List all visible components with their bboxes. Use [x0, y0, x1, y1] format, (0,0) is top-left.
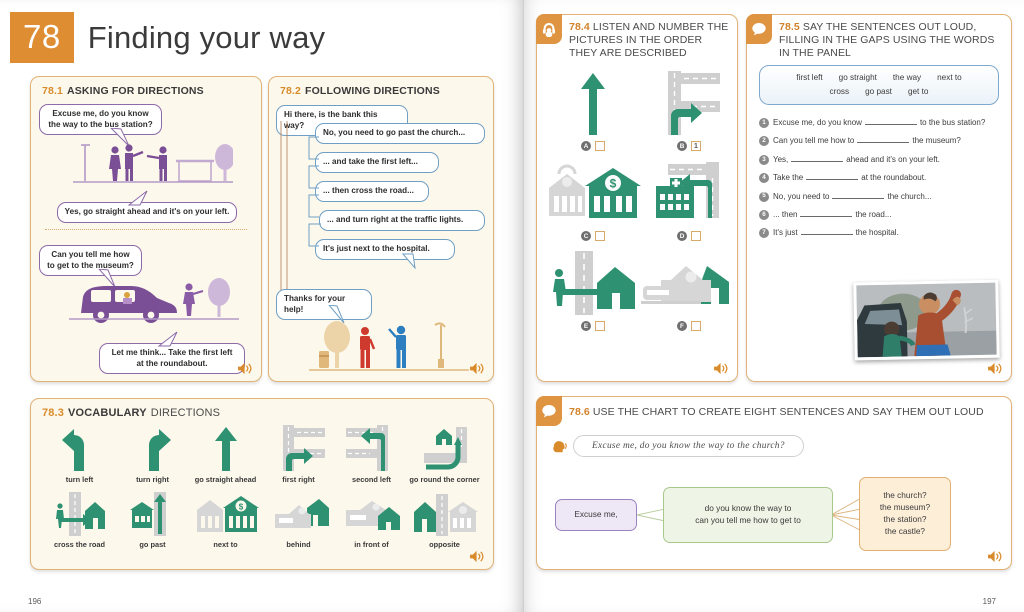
vocab-label: opposite	[429, 540, 460, 549]
audio-speaker-icon[interactable]	[470, 362, 485, 375]
gap-fill-item: 3 Yes,ahead and it's on your left.	[759, 154, 1001, 165]
picture-item: E	[545, 247, 641, 331]
bubble-tail-icon	[127, 190, 149, 206]
audio-speaker-icon[interactable]	[238, 362, 253, 375]
headphones-icon	[536, 14, 562, 44]
go-past-icon	[128, 488, 178, 536]
page-number-left: 196	[28, 597, 41, 606]
word-chip: cross	[830, 87, 850, 96]
speech-bubble-icon	[536, 396, 562, 426]
chart-destination-box: the church? the museum? the station? the…	[859, 477, 951, 551]
page-left: 78 Finding your way 78.1ASKING FOR DIREC…	[0, 0, 524, 612]
vocab-label: cross the road	[54, 540, 105, 549]
answer-box[interactable]	[595, 321, 605, 331]
bubble-tail-icon	[401, 253, 419, 269]
chart-option: the church?	[883, 490, 926, 502]
audio-speaker-icon[interactable]	[714, 362, 729, 375]
section-divider	[45, 229, 247, 230]
exercise-78-4-header: 78.4 LISTEN AND NUMBER THE PICTURES IN T…	[537, 15, 737, 59]
exercise-78-2-header: 78.2FOLLOWING DIRECTIONS	[269, 77, 493, 97]
speaking-head-icon	[551, 438, 569, 454]
word-chip: first left	[796, 73, 822, 82]
answer-gap[interactable]	[800, 209, 852, 217]
answer-gap[interactable]	[832, 191, 884, 199]
picture-letter: E	[581, 321, 591, 331]
question-text-before: Take the	[773, 173, 803, 182]
picture-item: B 1	[641, 67, 737, 151]
exercise-78-5-panel: 78.5 SAY THE SENTENCES OUT LOUD, FILLING…	[746, 14, 1012, 382]
question-number: 5	[759, 192, 769, 202]
vocab-label: next to	[213, 540, 237, 549]
picture-letter: B	[677, 141, 687, 151]
vocab-item: behind	[262, 488, 335, 549]
question-text-before: ... then	[773, 210, 797, 219]
answer-row: F	[677, 321, 701, 331]
vocab-item: opposite	[408, 488, 481, 549]
exercise-78-3-title-bold: VOCABULARY	[68, 407, 147, 419]
round-the-corner-icon	[418, 423, 472, 471]
chart-option: the castle?	[885, 526, 925, 538]
chart-option: the museum?	[880, 502, 930, 514]
next-to-bank-icon: $	[545, 157, 641, 229]
gap-fill-question-list: 1 Excuse me, do you knowto the bus stati…	[759, 117, 1001, 246]
gap-fill-item: 5 No, you need tothe church...	[759, 191, 1001, 202]
gap-fill-item: 4 Take theat the roundabout.	[759, 172, 1001, 183]
opposite-icon	[412, 488, 478, 536]
turn-left-arrow-icon	[62, 423, 98, 471]
vocabulary-grid: turn left turn right go straight ahead	[43, 423, 481, 549]
vocab-label: go straight ahead	[195, 475, 257, 484]
unit-header: 78 Finding your way	[10, 12, 325, 63]
answer-gap[interactable]	[801, 227, 853, 235]
picture-letter: D	[677, 231, 687, 241]
audio-speaker-icon[interactable]	[470, 550, 485, 563]
word-bank-row: cross go past get to	[766, 87, 992, 96]
word-bank-row: first left go straight the way next to	[766, 73, 992, 82]
car-scene-illustration	[69, 273, 239, 335]
answer-row: E	[581, 321, 605, 331]
question-number: 4	[759, 173, 769, 183]
vocab-item: first right	[262, 423, 335, 484]
gap-fill-item: 7 It's justthe hospital.	[759, 227, 1001, 238]
exercise-78-5-number: 78.5	[779, 21, 800, 33]
exercise-78-4-title: LISTEN AND NUMBER THE PICTURES IN THE OR…	[569, 21, 728, 59]
word-chip: get to	[908, 87, 929, 96]
unit-title: Finding your way	[88, 20, 326, 56]
question-number: 2	[759, 136, 769, 146]
bubble-78-1-q1: Excuse me, do you know the way to the bu…	[39, 104, 162, 135]
book-spread: 78 Finding your way 78.1ASKING FOR DIREC…	[0, 0, 1024, 612]
answer-row: A	[581, 141, 605, 151]
vocab-label: go past	[139, 540, 165, 549]
answer-box[interactable]	[595, 141, 605, 151]
second-left-junction-icon	[346, 423, 398, 471]
exercise-78-5-header: 78.5 SAY THE SENTENCES OUT LOUD, FILLING…	[747, 15, 1011, 59]
exercise-78-3-panel: 78.3VOCABULARYDIRECTIONS turn left turn …	[30, 398, 494, 570]
vocab-item: go past	[116, 488, 189, 549]
vocab-item: $ next to	[189, 488, 262, 549]
exercise-78-4-number: 78.4	[569, 21, 590, 33]
reply-chain-connector	[303, 135, 327, 255]
vocab-label: second left	[352, 475, 391, 484]
gap-fill-item: 2 Can you tell me how tothe museum?	[759, 135, 1001, 146]
driver-asking-directions-photo	[853, 280, 999, 361]
bubble-78-1-q2: Can you tell me how to get to the museum…	[39, 245, 142, 276]
chart-option: can you tell me how to get to	[695, 515, 801, 527]
bubble-78-2-reply-1: No, you need to go past the church...	[315, 123, 485, 144]
turn-right-arrow-icon	[135, 423, 171, 471]
example-bubble: Excuse me, do you know the way to the ch…	[573, 435, 804, 457]
question-text-before: Excuse me, do you know	[773, 118, 862, 127]
page-right: 78.4 LISTEN AND NUMBER THE PICTURES IN T…	[524, 0, 1024, 612]
word-chip: go straight	[839, 73, 877, 82]
answer-gap[interactable]	[806, 172, 858, 180]
picture-item: D	[641, 157, 737, 241]
answer-gap[interactable]	[857, 135, 909, 143]
vocab-item: cross the road	[43, 488, 116, 549]
exercise-78-1-number: 78.1	[42, 85, 63, 97]
exercise-78-1-panel: 78.1ASKING FOR DIRECTIONS Excuse me, do …	[30, 76, 262, 382]
exercise-78-5-title: SAY THE SENTENCES OUT LOUD, FILLING IN T…	[779, 21, 994, 59]
in-front-of-icon	[342, 488, 402, 536]
vocab-item: second left	[335, 423, 408, 484]
cross-the-road-icon	[549, 247, 637, 319]
chart-phrase-box: do you know the way to can you tell me h…	[663, 487, 833, 543]
sentence-chart: Excuse me, do you know the way to can yo…	[551, 475, 997, 551]
speech-bubble-icon	[746, 14, 772, 44]
answer-box[interactable]	[691, 321, 701, 331]
vocab-label: turn right	[136, 475, 169, 484]
word-bank-panel: first left go straight the way next to c…	[759, 65, 999, 105]
straight-arrow-icon	[578, 67, 608, 139]
behind-icon	[269, 488, 329, 536]
picture-letter: F	[677, 321, 687, 331]
first-right-junction-icon	[273, 423, 325, 471]
answer-gap[interactable]	[791, 154, 843, 162]
answer-gap[interactable]	[865, 117, 917, 125]
exercise-78-4-panel: 78.4 LISTEN AND NUMBER THE PICTURES IN T…	[536, 14, 738, 382]
vocab-item: turn left	[43, 423, 116, 484]
exercise-78-1-title: ASKING FOR DIRECTIONS	[67, 85, 204, 97]
question-text-before: No, you need to	[773, 192, 829, 201]
picture-grid: A	[545, 67, 729, 331]
audio-speaker-icon[interactable]	[988, 550, 1003, 563]
answer-box[interactable]	[595, 231, 605, 241]
question-text-after: ahead and it's on your left.	[846, 155, 940, 164]
chart-option: the station?	[884, 514, 927, 526]
exercise-78-2-title: FOLLOWING DIRECTIONS	[305, 85, 440, 97]
chart-opener-box: Excuse me,	[555, 499, 637, 531]
audio-speaker-icon[interactable]	[988, 362, 1003, 375]
straight-arrow-icon	[213, 423, 239, 471]
vocab-item: go round the corner	[408, 423, 481, 484]
page-number-right: 197	[983, 597, 996, 606]
vocab-label: first right	[282, 475, 314, 484]
picture-item: A	[545, 67, 641, 151]
answer-row: C	[581, 231, 605, 241]
picture-item: F	[641, 247, 737, 331]
picture-letter: A	[581, 141, 591, 151]
question-text-before: Yes,	[773, 155, 788, 164]
question-text-after: the hospital.	[856, 228, 899, 237]
answer-row: D	[677, 231, 701, 241]
picture-letter: C	[581, 231, 591, 241]
vocab-item: in front of	[335, 488, 408, 549]
exercise-78-3-header: 78.3VOCABULARYDIRECTIONS	[31, 399, 493, 419]
exercise-78-6-title: USE THE CHART TO CREATE EIGHT SENTENCES …	[593, 406, 984, 418]
question-text-after: the road...	[855, 210, 891, 219]
question-number: 7	[759, 228, 769, 238]
first-right-junction-icon	[658, 67, 720, 139]
exercise-78-6-header: 78.6 USE THE CHART TO CREATE EIGHT SENTE…	[537, 397, 1011, 419]
question-text-before: Can you tell me how to	[773, 136, 854, 145]
question-text-after: the museum?	[912, 136, 960, 145]
bubble-78-2-reply-3: ... then cross the road...	[315, 181, 429, 202]
vocab-label: turn left	[66, 475, 94, 484]
word-chip: go past	[865, 87, 892, 96]
cross-the-road-icon	[53, 488, 107, 536]
unit-number: 78	[10, 12, 74, 63]
svg-text:$: $	[610, 177, 617, 191]
exercise-78-3-number: 78.3	[42, 407, 64, 419]
answer-box[interactable]	[691, 231, 701, 241]
word-chip: the way	[893, 73, 921, 82]
gap-fill-item: 1 Excuse me, do you knowto the bus stati…	[759, 117, 1001, 128]
vocab-item: go straight ahead	[189, 423, 262, 484]
word-chip: next to	[937, 73, 962, 82]
question-number: 1	[759, 118, 769, 128]
exercise-78-6-panel: 78.6 USE THE CHART TO CREATE EIGHT SENTE…	[536, 396, 1012, 570]
exercise-78-6-number: 78.6	[569, 406, 590, 418]
bus-stop-scene-illustration	[73, 137, 233, 189]
question-text-after: at the roundabout.	[861, 173, 926, 182]
vocab-item: turn right	[116, 423, 189, 484]
exercise-78-1-header: 78.1ASKING FOR DIRECTIONS	[31, 77, 261, 97]
chart-option: Excuse me,	[574, 509, 617, 521]
street-figures-illustration	[309, 315, 469, 377]
chart-option: do you know the way to	[705, 503, 792, 515]
bubble-tail-icon	[157, 331, 179, 347]
question-text-before: It's just	[773, 228, 798, 237]
bubble-78-1-a2: Let me think... Take the first left at t…	[99, 343, 245, 374]
vocab-label: in front of	[354, 540, 388, 549]
exercise-78-2-number: 78.2	[280, 85, 301, 97]
hospital-corner-icon	[650, 157, 728, 229]
answer-row: B 1	[677, 141, 701, 151]
question-number: 3	[759, 155, 769, 165]
question-text-after: the church...	[887, 192, 931, 201]
gap-fill-item: 6 ... thenthe road...	[759, 209, 1001, 220]
question-text-after: to the bus station?	[920, 118, 985, 127]
bubble-78-2-reply-2: ... and take the first left...	[315, 152, 439, 173]
station-behind-house-icon	[641, 247, 737, 319]
vocab-label: go round the corner	[409, 475, 479, 484]
answer-box[interactable]: 1	[691, 141, 701, 151]
bubble-78-2-reply-4: ... and turn right at the traffic lights…	[319, 210, 485, 231]
bubble-78-2-reply-5: It's just next to the hospital.	[315, 239, 455, 260]
svg-text:$: $	[238, 503, 243, 512]
exercise-78-2-panel: 78.2FOLLOWING DIRECTIONS Hi there, is th…	[268, 76, 494, 382]
exercise-78-3-title-light: DIRECTIONS	[151, 407, 220, 419]
picture-item: $ C	[545, 157, 641, 241]
vocab-label: behind	[286, 540, 310, 549]
question-number: 6	[759, 210, 769, 220]
next-to-icon: $	[193, 488, 259, 536]
example-sentence-row: Excuse me, do you know the way to the ch…	[551, 435, 804, 457]
